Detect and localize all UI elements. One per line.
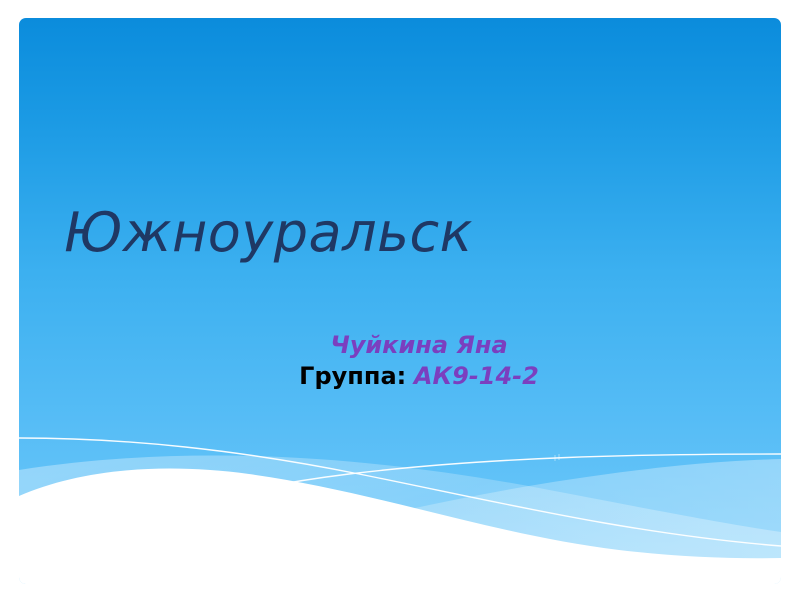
subtitle-group-line: Группа: АК9-14-2	[109, 361, 729, 392]
group-value: АК9-14-2	[414, 362, 539, 390]
group-label: Группа:	[299, 362, 406, 390]
subtitle-author-line: Чуйкина Яна	[109, 330, 729, 361]
slide-frame: Южноуральск Чуйкина Яна Группа: АК9-14-2	[0, 0, 800, 600]
background-artwork	[19, 18, 781, 584]
subtitle-placeholder[interactable]: Чуйкина Яна Группа: АК9-14-2	[109, 330, 729, 392]
page-title: Южноуральск	[64, 204, 744, 262]
slide-background	[19, 18, 781, 584]
title-placeholder[interactable]: Южноуральск	[64, 204, 744, 262]
author-name: Чуйкина Яна	[330, 331, 507, 359]
slide-canvas: Южноуральск Чуйкина Яна Группа: АК9-14-2	[19, 18, 781, 584]
